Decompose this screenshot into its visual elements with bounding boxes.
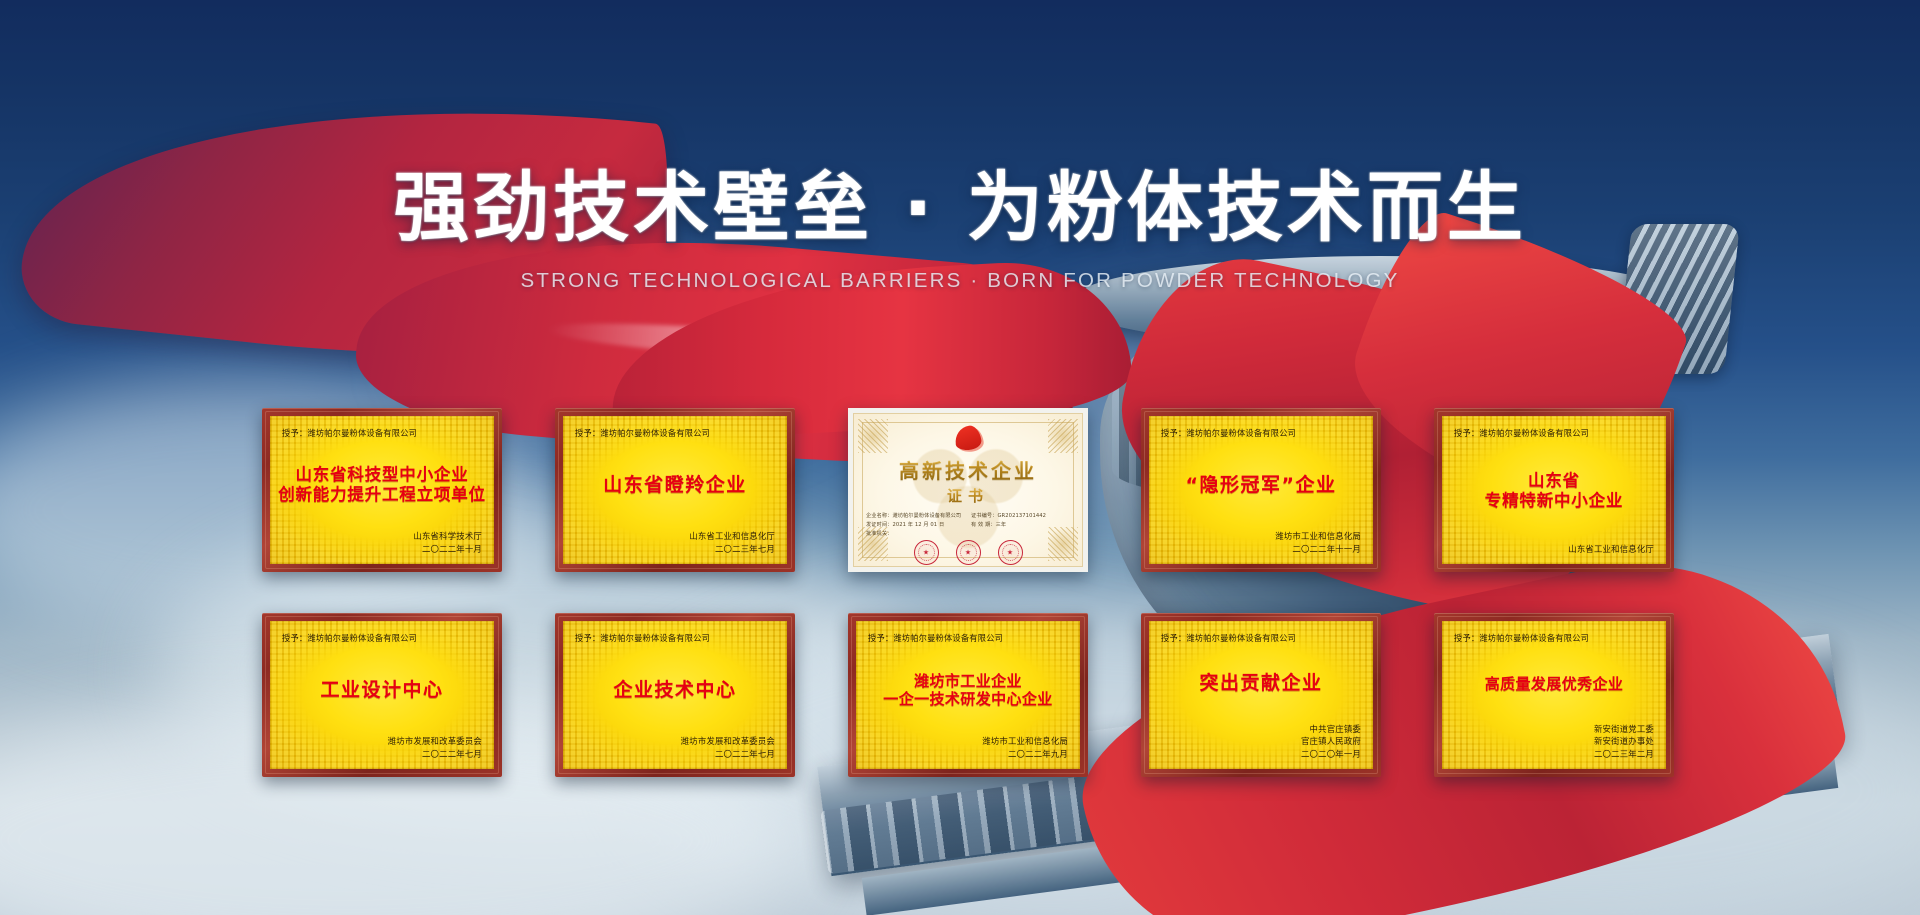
certificate-number-field: 证书编号：GR202137101442 [971, 512, 1070, 519]
plaque-issuer: 山东省科学技术厅 二〇二二年十月 [282, 530, 482, 555]
plaque-title-line: 专精特新中小企业 [1485, 492, 1623, 511]
plaque-title-line: 创新能力提升工程立项单位 [278, 486, 486, 505]
certificate-corner-ornament [1048, 419, 1078, 453]
plaque-card[interactable]: 授予：潍坊帕尔曼粉体设备有限公司 潍坊市工业企业 一企一技术研发中心企业 潍坊市… [848, 613, 1088, 777]
certificate-validity-field: 有 效 期：三年 [971, 521, 1070, 528]
plaque-issuer-line: 二〇二二年十一月 [1161, 543, 1361, 555]
plaque-issuer-line: 山东省工业和信息化厅 [1454, 543, 1654, 555]
plaque-issuer-line: 二〇二〇年一月 [1161, 748, 1361, 760]
certificate-face: 高新技术企业 证书 企业名称：潍坊帕尔曼粉体设备有限公司 证书编号：GR2021… [853, 413, 1083, 567]
plaque-title-line: 潍坊市工业企业 [914, 673, 1022, 690]
plaque-issuer-line: 二〇二三年二月 [1454, 748, 1654, 760]
plaque-award-to: 授予：潍坊帕尔曼粉体设备有限公司 [1454, 427, 1646, 439]
plaque-card[interactable]: 授予：潍坊帕尔曼粉体设备有限公司 工业设计中心 潍坊市发展和改革委员会 二〇二二… [262, 613, 502, 777]
plaque-award-to: 授予：潍坊帕尔曼粉体设备有限公司 [868, 632, 1060, 644]
plaque-issuer-line: 二〇二三年七月 [575, 543, 775, 555]
plaque-title-line: 突出贡献企业 [1199, 673, 1322, 695]
plaque-card[interactable]: 授予：潍坊帕尔曼粉体设备有限公司 山东省 专精特新中小企业 山东省工业和信息化厅 [1434, 408, 1674, 572]
plaque-title: 高质量发展优秀企业 [1454, 644, 1654, 723]
plaque-card[interactable]: 授予：潍坊帕尔曼粉体设备有限公司 高质量发展优秀企业 新安街道党工委 新安街道办… [1434, 613, 1674, 777]
plaque-card[interactable]: 授予：潍坊帕尔曼粉体设备有限公司 “隐形冠军”企业 潍坊市工业和信息化局 二〇二… [1141, 408, 1381, 572]
certificate-corner-ornament [858, 419, 888, 453]
plaque-issuer-line: 二〇二二年七月 [575, 748, 775, 760]
plaque-issuer-line: 官庄镇人民政府 [1161, 735, 1361, 747]
certificate-authority-field: 批准机关： [866, 530, 1070, 537]
plaque-issuer-line: 中共官庄镇委 [1161, 723, 1361, 735]
plaque-title: 山东省瞪羚企业 [575, 439, 775, 530]
plaque-issuer: 中共官庄镇委 官庄镇人民政府 二〇二〇年一月 [1161, 723, 1361, 760]
plaque-face: 授予：潍坊帕尔曼粉体设备有限公司 工业设计中心 潍坊市发展和改革委员会 二〇二二… [270, 621, 494, 769]
official-seal-icon [956, 540, 981, 565]
plaque-card[interactable]: 授予：潍坊帕尔曼粉体设备有限公司 企业技术中心 潍坊市发展和改革委员会 二〇二二… [555, 613, 795, 777]
plaque-card[interactable]: 授予：潍坊帕尔曼粉体设备有限公司 山东省科技型中小企业 创新能力提升工程立项单位… [262, 408, 502, 572]
plaque-title-line: 山东省科技型中小企业 [296, 466, 469, 485]
promo-banner: 强劲技术壁垒 · 为粉体技术而生 STRONG TECHNOLOGICAL BA… [0, 0, 1920, 915]
plaque-issuer-line: 新安街道办事处 [1454, 735, 1654, 747]
plaque-award-to: 授予：潍坊帕尔曼粉体设备有限公司 [1161, 427, 1353, 439]
plaque-award-to: 授予：潍坊帕尔曼粉体设备有限公司 [282, 632, 474, 644]
plaque-award-to: 授予：潍坊帕尔曼粉体设备有限公司 [575, 632, 767, 644]
plaque-title-line: 一企一技术研发中心企业 [883, 691, 1052, 708]
high-tech-enterprise-certificate[interactable]: 高新技术企业 证书 企业名称：潍坊帕尔曼粉体设备有限公司 证书编号：GR2021… [848, 408, 1088, 572]
banner-subtitle: STRONG TECHNOLOGICAL BARRIERS · BORN FOR… [0, 269, 1920, 293]
plaque-issuer: 山东省工业和信息化厅 二〇二三年七月 [575, 530, 775, 555]
plaque-issuer-line: 新安街道党工委 [1454, 723, 1654, 735]
plaque-face: 授予：潍坊帕尔曼粉体设备有限公司 山东省科技型中小企业 创新能力提升工程立项单位… [270, 416, 494, 564]
certificate-company-field: 企业名称：潍坊帕尔曼粉体设备有限公司 [866, 512, 965, 519]
honor-plaque-grid: 授予：潍坊帕尔曼粉体设备有限公司 山东省科技型中小企业 创新能力提升工程立项单位… [262, 408, 1676, 777]
plaque-title: 工业设计中心 [282, 644, 482, 735]
plaque-card[interactable]: 授予：潍坊帕尔曼粉体设备有限公司 突出贡献企业 中共官庄镇委 官庄镇人民政府 二… [1141, 613, 1381, 777]
plaque-issuer-line: 潍坊市发展和改革委员会 [282, 735, 482, 747]
plaque-award-to: 授予：潍坊帕尔曼粉体设备有限公司 [282, 427, 474, 439]
plaque-face: 授予：潍坊帕尔曼粉体设备有限公司 山东省瞪羚企业 山东省工业和信息化厅 二〇二三… [563, 416, 787, 564]
plaque-issuer-line: 山东省科学技术厅 [282, 530, 482, 542]
plaque-title-line: 山东省瞪羚企业 [603, 475, 747, 497]
banner-title: 强劲技术壁垒 · 为粉体技术而生 [0, 168, 1920, 249]
certificate-issue-date-field: 发证时间：2021 年 12 月 01 日 [866, 521, 965, 528]
plaque-issuer: 山东省工业和信息化厅 [1454, 543, 1654, 555]
plaque-title: 山东省科技型中小企业 创新能力提升工程立项单位 [282, 439, 482, 530]
plaque-issuer: 新安街道党工委 新安街道办事处 二〇二三年二月 [1454, 723, 1654, 760]
plaque-face: 授予：潍坊帕尔曼粉体设备有限公司 山东省 专精特新中小企业 山东省工业和信息化厅 [1442, 416, 1666, 564]
plaque-title-line: 山东省 [1528, 472, 1580, 491]
certificate-seal-group [914, 540, 1023, 565]
certificate-fields: 企业名称：潍坊帕尔曼粉体设备有限公司 证书编号：GR202137101442 发… [854, 512, 1082, 537]
plaque-face: 授予：潍坊帕尔曼粉体设备有限公司 高质量发展优秀企业 新安街道党工委 新安街道办… [1442, 621, 1666, 769]
plaque-issuer-line: 山东省工业和信息化厅 [575, 530, 775, 542]
plaque-award-to: 授予：潍坊帕尔曼粉体设备有限公司 [1454, 632, 1646, 644]
plaque-title: 潍坊市工业企业 一企一技术研发中心企业 [868, 644, 1068, 735]
plaque-issuer: 潍坊市工业和信息化局 二〇二二年十一月 [1161, 530, 1361, 555]
plaque-award-to: 授予：潍坊帕尔曼粉体设备有限公司 [575, 427, 767, 439]
plaque-award-to: 授予：潍坊帕尔曼粉体设备有限公司 [1161, 632, 1353, 644]
plaque-issuer-line: 二〇二二年十月 [282, 543, 482, 555]
plaque-face: 授予：潍坊帕尔曼粉体设备有限公司 潍坊市工业企业 一企一技术研发中心企业 潍坊市… [856, 621, 1080, 769]
plaque-issuer: 潍坊市工业和信息化局 二〇二二年九月 [868, 735, 1068, 760]
official-seal-icon [914, 540, 939, 565]
plaque-title: 山东省 专精特新中小企业 [1454, 439, 1654, 543]
plaque-title-line: “隐形冠军”企业 [1186, 475, 1337, 497]
plaque-issuer-line: 二〇二二年七月 [282, 748, 482, 760]
plaque-title-line: 企业技术中心 [613, 680, 736, 702]
plaque-card[interactable]: 授予：潍坊帕尔曼粉体设备有限公司 山东省瞪羚企业 山东省工业和信息化厅 二〇二三… [555, 408, 795, 572]
certificate-title: 高新技术企业 [899, 455, 1037, 484]
plaque-issuer-line: 潍坊市工业和信息化局 [1161, 530, 1361, 542]
plaque-issuer-line: 潍坊市工业和信息化局 [868, 735, 1068, 747]
plaque-issuer: 潍坊市发展和改革委员会 二〇二二年七月 [575, 735, 775, 760]
plaque-title: “隐形冠军”企业 [1161, 439, 1361, 530]
official-seal-icon [998, 540, 1023, 565]
plaque-title-line: 工业设计中心 [320, 680, 443, 702]
plaque-issuer-line: 潍坊市发展和改革委员会 [575, 735, 775, 747]
plaque-issuer: 潍坊市发展和改革委员会 二〇二二年七月 [282, 735, 482, 760]
plaque-title-line: 高质量发展优秀企业 [1485, 676, 1624, 693]
plaque-face: 授予：潍坊帕尔曼粉体设备有限公司 突出贡献企业 中共官庄镇委 官庄镇人民政府 二… [1149, 621, 1373, 769]
plaque-face: 授予：潍坊帕尔曼粉体设备有限公司 “隐形冠军”企业 潍坊市工业和信息化局 二〇二… [1149, 416, 1373, 564]
plaque-title: 企业技术中心 [575, 644, 775, 735]
plaque-title: 突出贡献企业 [1161, 644, 1361, 723]
certificate-subtitle: 证书 [947, 485, 989, 506]
banner-heading-group: 强劲技术壁垒 · 为粉体技术而生 STRONG TECHNOLOGICAL BA… [0, 0, 1920, 293]
plaque-face: 授予：潍坊帕尔曼粉体设备有限公司 企业技术中心 潍坊市发展和改革委员会 二〇二二… [563, 621, 787, 769]
plaque-issuer-line: 二〇二二年九月 [868, 748, 1068, 760]
